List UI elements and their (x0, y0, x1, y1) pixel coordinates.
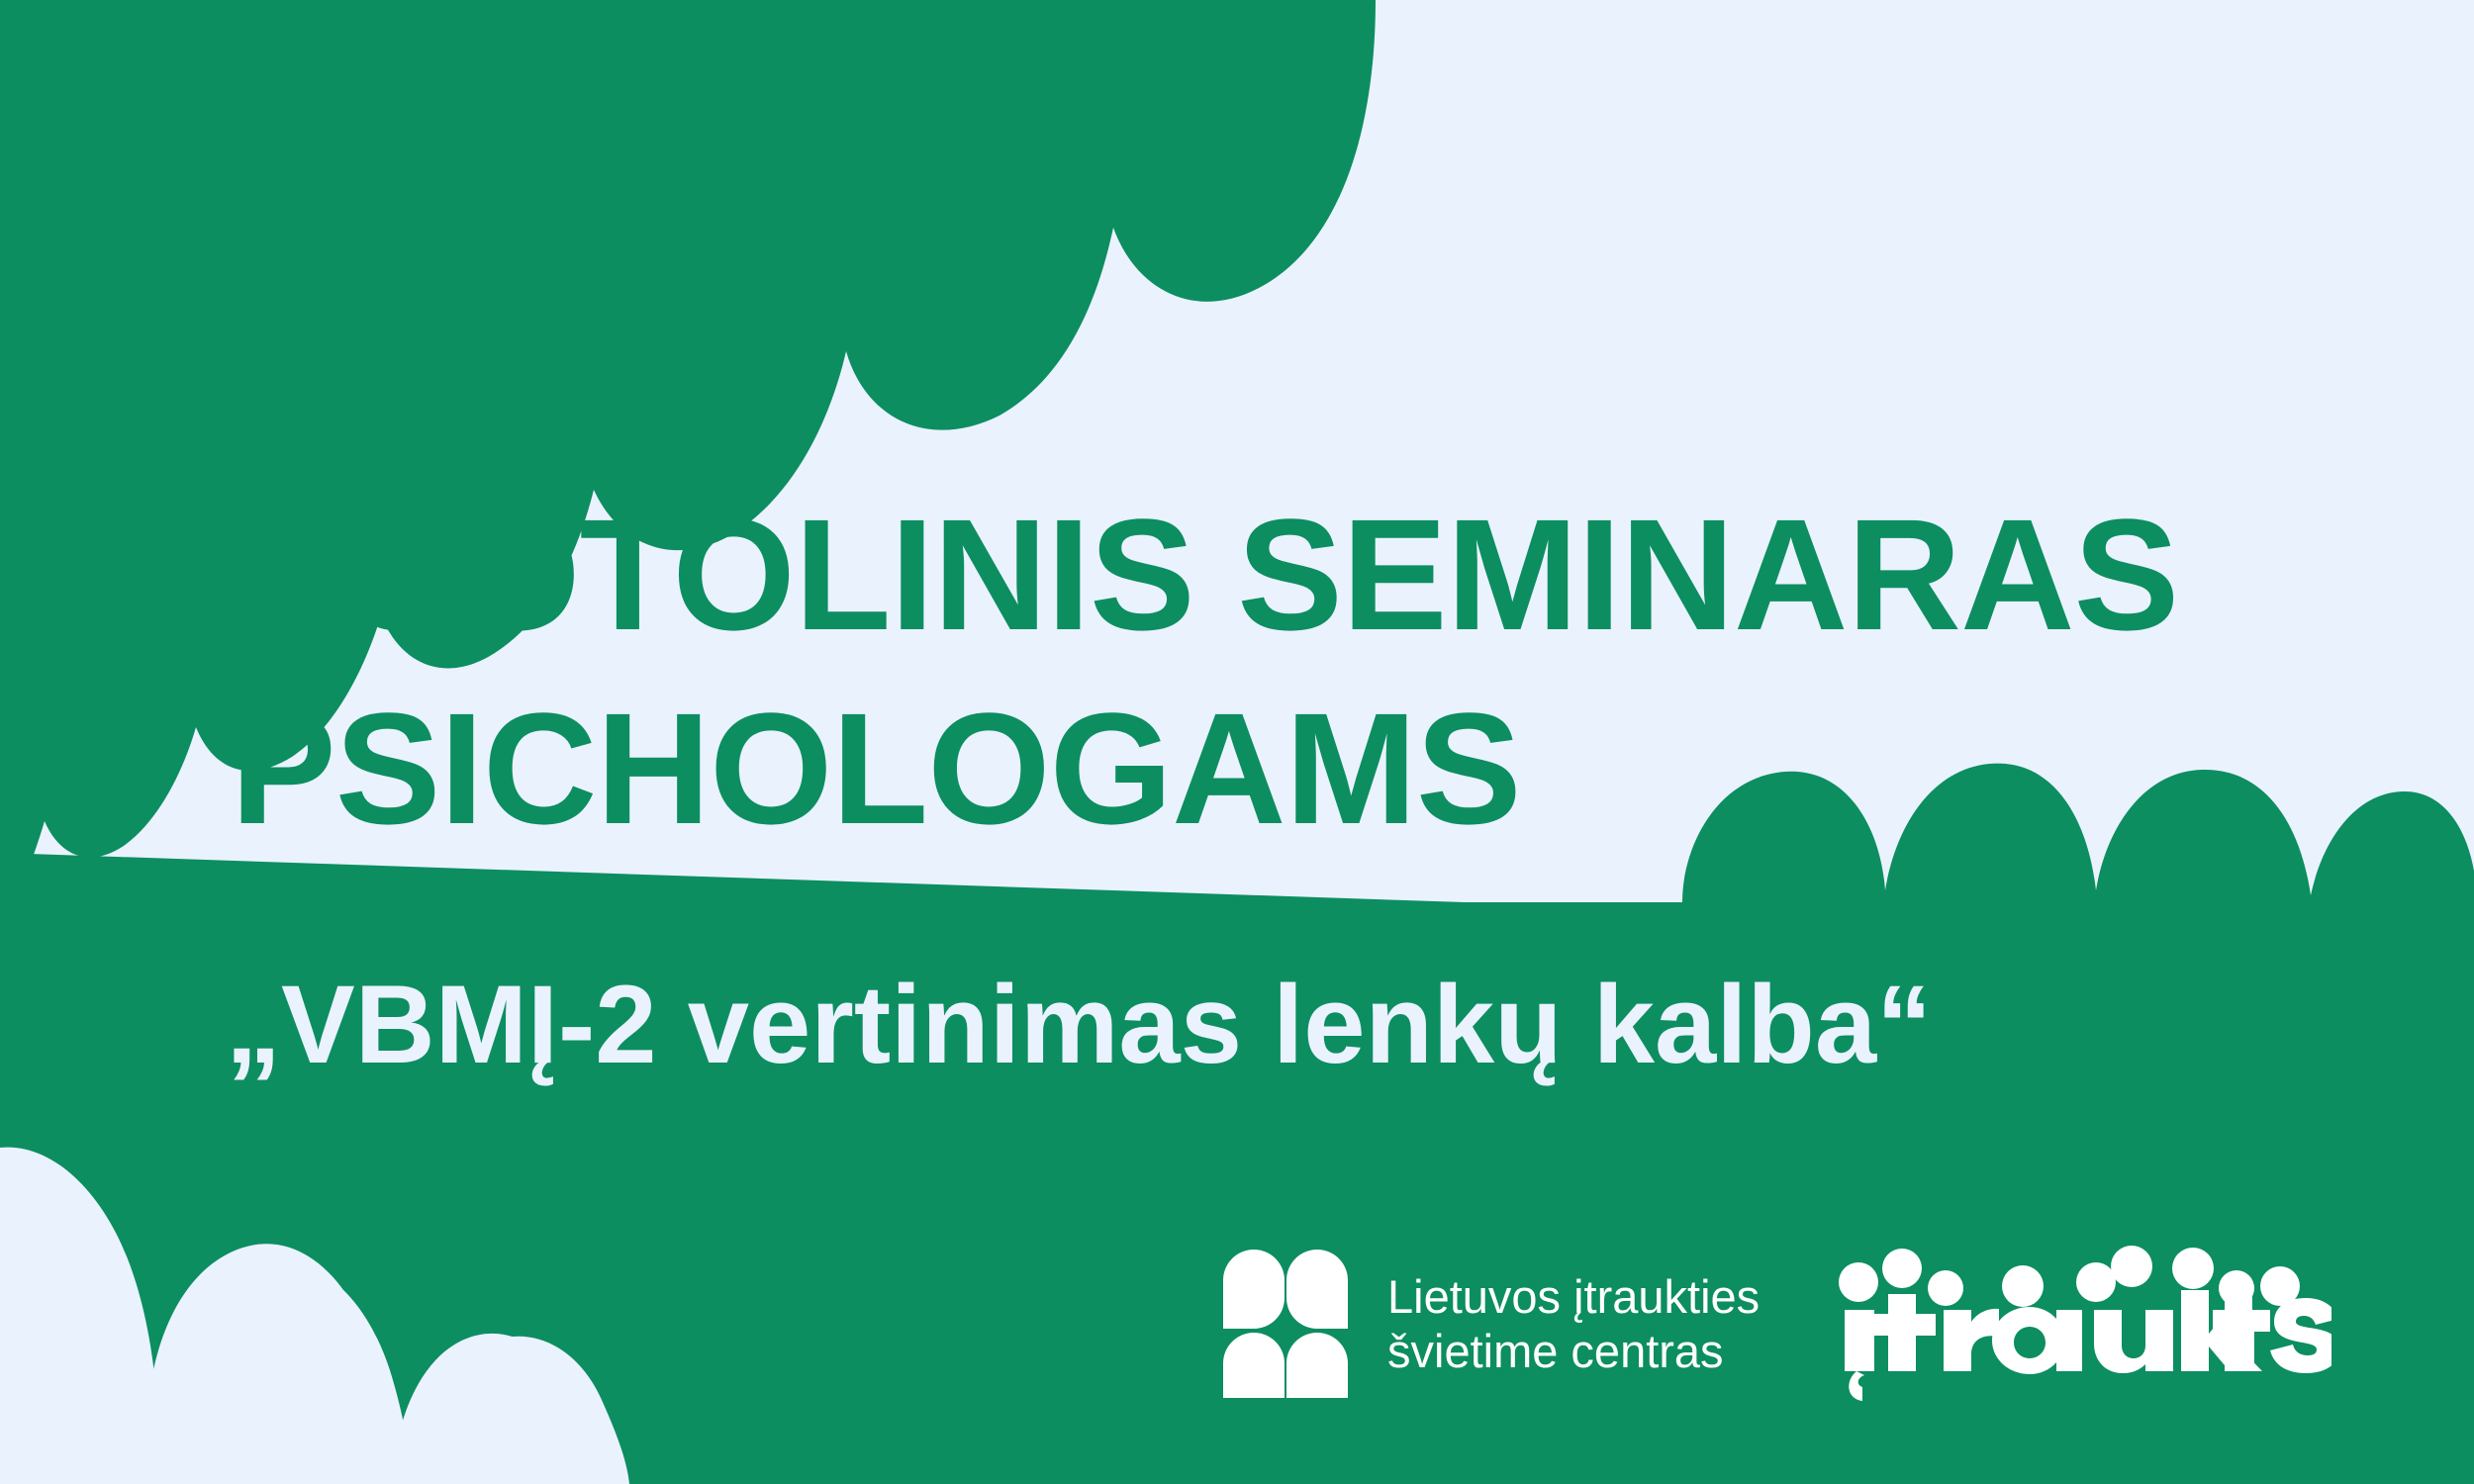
organization-name: Lietuvos įtraukties švietime centras (1387, 1269, 1760, 1378)
footer-logos: Lietuvos įtraukties švietime centras (1223, 1245, 2331, 1403)
four-figures-icon (1223, 1250, 1348, 1398)
itraukis-wordmark-logo (1837, 1245, 2331, 1403)
page-title: NUOTOLINIS SEMINARAS PSICHOLOGAMS (231, 478, 2329, 866)
poster-canvas: NUOTOLINIS SEMINARAS PSICHOLOGAMS „VBMĮ-… (0, 0, 2474, 1484)
seminar-subtitle: „VBMĮ-2 vertinimas lenkų kalba“ (226, 966, 1932, 1084)
organization-logo: Lietuvos įtraukties švietime centras (1223, 1250, 1760, 1398)
